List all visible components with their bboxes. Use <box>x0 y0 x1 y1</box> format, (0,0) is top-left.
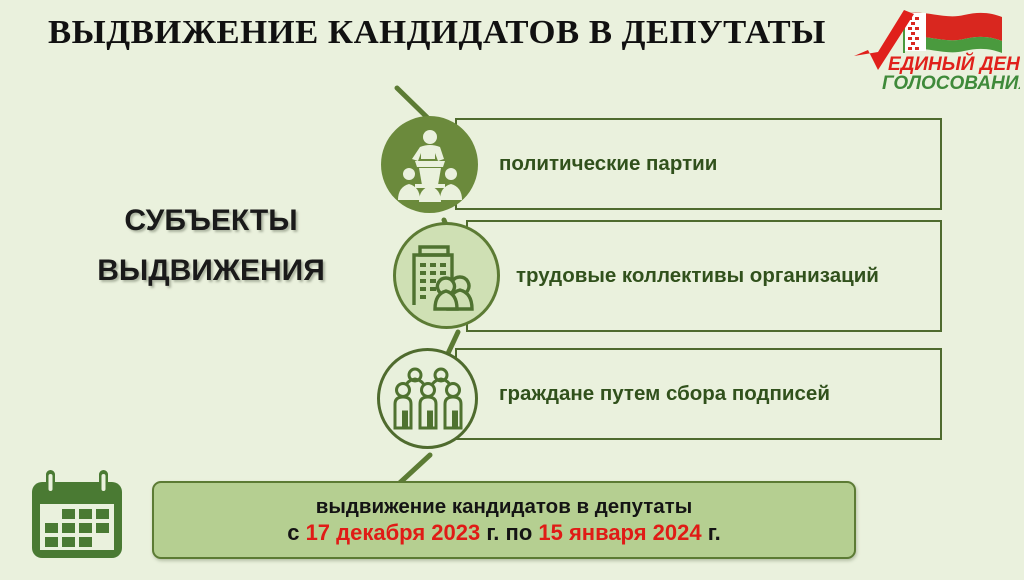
slide-canvas: ВЫДВИЖЕНИЕ КАНДИДАТОВ В ДЕПУТАТЫ ЕДИНЫЙ … <box>0 0 1024 580</box>
label-box-labor-collectives[interactable]: трудовые коллективы организаций <box>466 220 942 332</box>
left-heading: СУБЪЕКТЫ ВЫДВИЖЕНИЯ <box>66 196 356 296</box>
period-date-from: 17 декабря 2023 <box>306 520 481 545</box>
edinyy-den-golosovaniya-logo: ЕДИНЫЙ ДЕНЬ ГОЛОСОВАНИЯ <box>852 8 1020 92</box>
label-text-labor-collectives: трудовые коллективы организаций <box>516 264 879 288</box>
speaker-podium-audience-icon <box>393 128 467 202</box>
period-dates: с 17 декабря 2023 г. по 15 января 2024 г… <box>287 521 721 544</box>
left-heading-line1: СУБЪЕКТЫ <box>124 204 297 237</box>
icon-circle-political-parties[interactable] <box>381 116 478 213</box>
label-text-political-parties: политические партии <box>499 152 717 176</box>
page-title: ВЫДВИЖЕНИЕ КАНДИДАТОВ В ДЕПУТАТЫ <box>48 14 826 52</box>
group-of-people-icon <box>390 366 466 432</box>
period-mid: г. по <box>480 520 538 545</box>
icon-circle-labor-collectives[interactable] <box>393 222 500 329</box>
icon-circle-citizens-signatures[interactable] <box>377 348 478 449</box>
period-suffix: г. <box>702 520 721 545</box>
left-heading-line2: ВЫДВИЖЕНИЯ <box>66 246 356 296</box>
period-prefix: с <box>287 520 305 545</box>
calendar-icon <box>22 466 132 566</box>
period-box[interactable]: выдвижение кандидатов в депутаты с 17 де… <box>152 481 856 559</box>
label-text-citizens-signatures: граждане путем сбора подписей <box>499 382 830 406</box>
logo-line1: ЕДИНЫЙ ДЕНЬ <box>888 53 1020 75</box>
period-title: выдвижение кандидатов в депутаты <box>316 496 692 518</box>
label-box-political-parties[interactable]: политические партии <box>455 118 942 210</box>
office-building-people-icon <box>408 237 486 315</box>
belarus-flag-icon <box>903 13 1002 53</box>
label-box-citizens-signatures[interactable]: граждане путем сбора подписей <box>455 348 942 440</box>
period-date-to: 15 января 2024 <box>538 520 701 545</box>
logo-line2: ГОЛОСОВАНИЯ <box>882 73 1020 92</box>
